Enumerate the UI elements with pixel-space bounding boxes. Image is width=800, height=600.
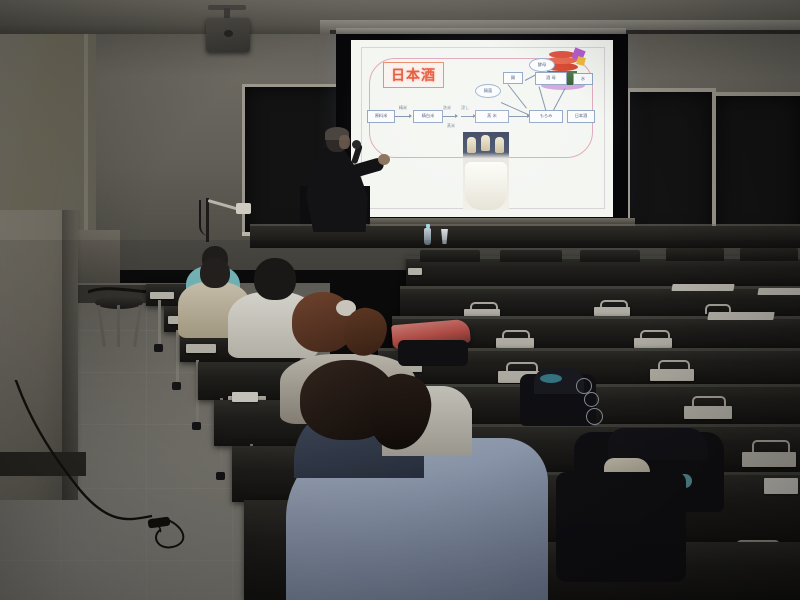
presenter-face — [339, 135, 350, 149]
chair-back[interactable] — [666, 248, 724, 261]
bag-chain-icon — [584, 392, 599, 407]
desk-name-panel — [496, 338, 534, 348]
presenter-hand — [378, 154, 390, 165]
photo-worker — [481, 135, 490, 151]
bench-foot — [154, 344, 163, 352]
lecture-hall-photo: 日本酒 — [0, 0, 800, 600]
desk-name-panel — [186, 344, 216, 353]
stool-leg — [117, 305, 120, 347]
diagram-node-yeast: 酵母 — [529, 58, 555, 72]
diagram-arrow-icon — [455, 114, 458, 118]
desk-name-panel — [650, 369, 694, 381]
student-blue-hoodie — [286, 360, 546, 600]
desk-name-panel — [408, 268, 422, 275]
desk-name-panel — [742, 452, 796, 467]
desk-flap[interactable] — [671, 284, 734, 291]
diagram-node-moromi: もろみ — [529, 110, 563, 123]
diagram-node-koji-mold: 麹菌 — [475, 84, 501, 98]
teal-pouch — [540, 374, 562, 383]
desk-flap[interactable] — [707, 312, 774, 320]
bench-foot — [216, 472, 225, 480]
black-bag-lower — [556, 472, 686, 582]
blackboard-far-right — [716, 96, 800, 238]
stool — [95, 296, 143, 348]
diagram-node-nihonshu: 日本酒 — [567, 110, 595, 123]
desk-name-panel — [684, 406, 732, 419]
diagram-node-shubo: 酒 母 — [535, 72, 567, 85]
desk-flap[interactable] — [757, 288, 800, 295]
bench-foot — [192, 422, 201, 430]
bench-foot — [172, 382, 181, 390]
diagram-edge-label-senmai: 洗米 — [443, 105, 451, 111]
diagram-arrow-icon — [409, 114, 412, 118]
chair-back[interactable] — [580, 250, 640, 262]
handout-paper — [232, 392, 258, 402]
diagram-edge-label-mushimai: 蒸米 — [447, 123, 455, 129]
student-head — [200, 258, 230, 288]
diagram-node-raw-rice: 原料米 — [367, 110, 395, 123]
photo-worker — [495, 137, 504, 153]
chair-back[interactable] — [420, 250, 480, 262]
brewery-workers-photo — [463, 132, 509, 210]
diagram-edge — [507, 116, 529, 117]
handout-paper — [764, 478, 798, 494]
backpack-top-flap — [608, 428, 708, 460]
diagram-edge-label-seimai: 精米 — [399, 105, 407, 111]
water-bottle — [424, 228, 431, 245]
desk-name-panel — [594, 307, 630, 316]
slide-title: 日本酒 — [383, 62, 444, 88]
projector-lens-icon — [224, 30, 233, 37]
chair-back[interactable] — [500, 250, 562, 262]
microphone-stand — [206, 198, 209, 242]
projection-screen: 日本酒 — [351, 40, 613, 217]
black-bag-small — [398, 340, 468, 366]
diagram-node-polished-rice: 精白米 — [413, 110, 443, 123]
diagram-node-koji: 麹 — [503, 72, 523, 84]
barrel-spark2-icon — [576, 56, 586, 66]
desk-name-panel — [150, 292, 174, 299]
presenter-body — [306, 148, 368, 232]
desk-name-panel — [634, 338, 672, 348]
bag-chain-icon — [586, 408, 603, 425]
diagram-node-steamed-rice: 蒸 米 — [475, 110, 509, 123]
diagram-node-water: 水 — [573, 73, 593, 85]
chair-back[interactable] — [740, 248, 798, 261]
microphone-receiver-box — [236, 203, 251, 214]
stool-leg — [97, 305, 106, 347]
bench-leg — [158, 300, 161, 344]
presenter — [296, 128, 382, 232]
photo-brewing-vat — [465, 162, 507, 210]
microphone-head-icon — [352, 140, 361, 149]
photo-worker — [467, 137, 476, 153]
slide-content: 日本酒 — [351, 40, 613, 217]
blackboard-center-right — [630, 92, 712, 238]
stool-leg — [133, 305, 142, 347]
bottle-cap — [426, 224, 430, 228]
diagram-edge-label-hitashi: 浸し — [461, 105, 469, 111]
